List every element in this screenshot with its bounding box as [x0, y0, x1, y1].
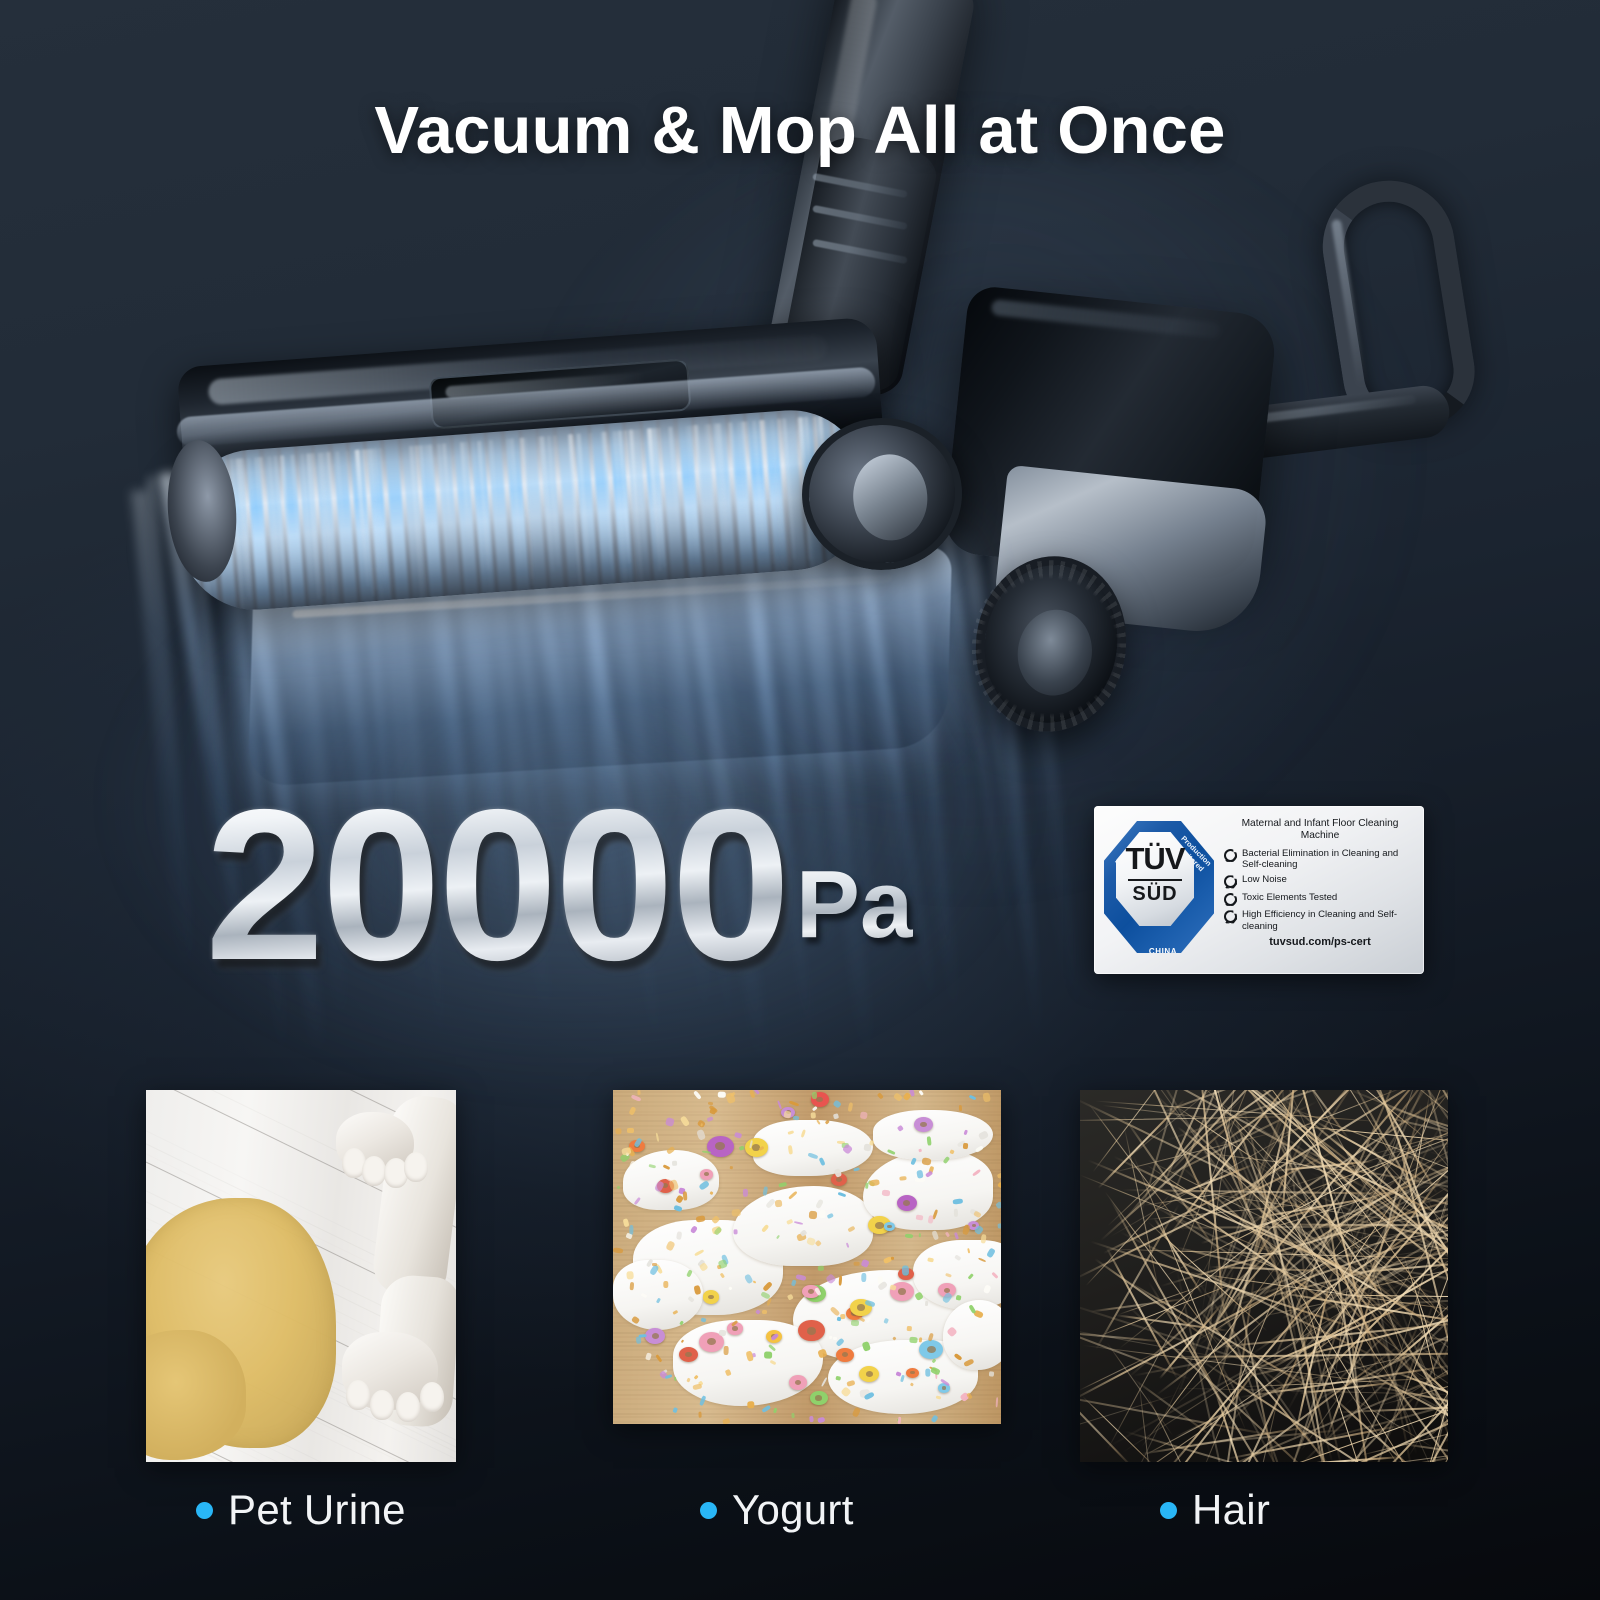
suction-value: 20000	[205, 790, 788, 979]
product-marketing-image: Vacuum & Mop All at Once 20000 Pa Type t…	[0, 0, 1600, 1600]
cereal-crumb	[919, 1233, 921, 1237]
caption-label: Pet Urine	[228, 1486, 406, 1534]
cereal-crumb	[963, 1142, 968, 1149]
wood-grain	[613, 1095, 1001, 1097]
cereal-crumb	[904, 1345, 912, 1350]
cereal-crumb	[743, 1189, 748, 1197]
cereal-crumb	[958, 1105, 961, 1111]
cereal-crumb	[663, 1281, 668, 1288]
cereal-crumb	[954, 1209, 958, 1217]
cereal-loop	[700, 1169, 713, 1180]
demo-panel-hair	[1080, 1090, 1448, 1462]
cereal-crumb	[897, 1416, 900, 1423]
cereal-crumb	[729, 1166, 732, 1169]
paw-toe	[420, 1382, 444, 1412]
cereal-crumb	[916, 1214, 923, 1220]
bullet-icon	[196, 1502, 213, 1519]
cereal-crumb	[672, 1160, 677, 1165]
cereal-crumb	[928, 1257, 934, 1262]
check-icon	[1224, 875, 1237, 888]
cereal-crumb	[882, 1189, 890, 1196]
caption-label: Hair	[1192, 1486, 1270, 1534]
cereal-loop	[810, 1391, 828, 1406]
wood-grain	[613, 1091, 1001, 1093]
cereal-loop	[836, 1348, 854, 1362]
check-icon	[1224, 849, 1237, 862]
demo-panel-pet-urine	[146, 1090, 456, 1462]
cereal-crumb	[883, 1318, 888, 1324]
paw-toe	[404, 1152, 428, 1182]
check-icon	[1224, 893, 1237, 906]
tuv-certificate-title: Maternal and Infant Floor Cleaning Machi…	[1224, 818, 1416, 843]
tuv-sud-label: SÜD	[1116, 883, 1194, 906]
tuv-details: Maternal and Infant Floor Cleaning Machi…	[1224, 813, 1416, 968]
cereal-crumb	[793, 1115, 800, 1120]
cereal-crumb	[718, 1091, 726, 1097]
page-title: Vacuum & Mop All at Once	[0, 92, 1600, 169]
cereal-crumb	[980, 1234, 986, 1243]
tuv-certification-badge: Type tested Production monitored CHINA T…	[1094, 806, 1424, 974]
cereal-crumb	[820, 1210, 826, 1218]
wood-grain	[613, 1105, 1001, 1107]
cereal-crumb	[698, 1411, 701, 1417]
wood-grain	[613, 1101, 1001, 1103]
cereal-crumb	[724, 1346, 729, 1355]
cereal-crumb	[718, 1330, 726, 1337]
tuv-criteria-item: Low Noise	[1224, 874, 1416, 888]
cereal-loop	[798, 1320, 824, 1341]
cereal-crumb	[791, 1413, 794, 1418]
cereal-crumb	[629, 1282, 634, 1290]
tuv-criteria-label: High Efficiency in Cleaning and Self-cle…	[1242, 909, 1416, 932]
cereal-crumb	[854, 1262, 860, 1266]
cereal-crumb	[818, 1266, 824, 1271]
cereal-crumb	[765, 1352, 773, 1359]
tuv-criteria-item: Bacterial Elimination in Cleaning and Se…	[1224, 848, 1416, 871]
bullet-icon	[1160, 1502, 1177, 1519]
cereal-loop	[703, 1290, 720, 1303]
caption-label: Yogurt	[732, 1486, 854, 1534]
cereal-loop	[897, 1195, 917, 1211]
cereal-crumb	[652, 1263, 657, 1266]
cereal-crumb	[925, 1301, 928, 1306]
paw-toe	[370, 1390, 394, 1420]
cereal-crumb	[833, 1113, 839, 1119]
demo-panel-yogurt	[613, 1090, 1001, 1424]
wood-grain	[613, 1421, 1001, 1423]
tuv-criteria-item: Toxic Elements Tested	[1224, 892, 1416, 906]
tuv-url: tuvsud.com/ps-cert	[1224, 936, 1416, 948]
demo-panels	[0, 1090, 1600, 1470]
tuv-criteria-item: High Efficiency in Cleaning and Self-cle…	[1224, 909, 1416, 932]
tuv-criteria-list: Bacterial Elimination in Cleaning and Se…	[1224, 848, 1416, 933]
cereal-crumb	[918, 1337, 922, 1342]
tuv-divider	[1128, 879, 1182, 881]
cereal-crumb	[683, 1191, 687, 1200]
tuv-brand-label: TÜV	[1116, 843, 1194, 874]
cereal-crumb	[615, 1128, 622, 1135]
paw-toe	[396, 1392, 420, 1422]
cereal-crumb	[639, 1334, 647, 1338]
cereal-crumb	[775, 1199, 783, 1207]
cereal-loop	[707, 1136, 734, 1157]
cereal-crumb	[733, 1229, 737, 1234]
cereal-loop	[789, 1375, 807, 1389]
cereal-crumb	[627, 1128, 634, 1133]
cereal-crumb	[861, 1273, 866, 1282]
paw-toe	[346, 1380, 370, 1410]
demo-captions: Pet Urine Yogurt Hair	[0, 1486, 1600, 1556]
cereal-crumb	[910, 1337, 918, 1343]
caption-yogurt: Yogurt	[700, 1486, 854, 1534]
cereal-crumb	[952, 1198, 962, 1204]
caption-hair: Hair	[1160, 1486, 1270, 1534]
tuv-criteria-label: Low Noise	[1242, 874, 1287, 886]
cereal-crumb	[809, 1211, 817, 1219]
bullet-icon	[700, 1502, 717, 1519]
paw-toe	[362, 1156, 386, 1186]
tuv-criteria-label: Bacterial Elimination in Cleaning and Se…	[1242, 848, 1416, 871]
cereal-crumb	[998, 1223, 1001, 1229]
tuv-region-label: CHINA	[1108, 947, 1218, 956]
caption-pet-urine: Pet Urine	[196, 1486, 406, 1534]
cereal-crumb	[747, 1401, 755, 1409]
check-icon	[1224, 910, 1237, 923]
cereal-crumb	[636, 1090, 640, 1095]
wood-grain	[613, 1416, 1001, 1418]
cereal-loop	[645, 1328, 664, 1344]
cereal-loop	[679, 1347, 698, 1362]
tuv-octagon-mark: Type tested Production monitored CHINA T…	[1100, 813, 1218, 968]
cereal-crumb	[924, 1369, 929, 1377]
cereal-loop	[906, 1368, 919, 1378]
suction-power-spec: 20000 Pa	[205, 790, 913, 979]
suction-unit: Pa	[796, 857, 913, 953]
tuv-criteria-label: Toxic Elements Tested	[1242, 892, 1337, 904]
cereal-loop	[914, 1117, 933, 1132]
wood-grain	[613, 1413, 1001, 1415]
